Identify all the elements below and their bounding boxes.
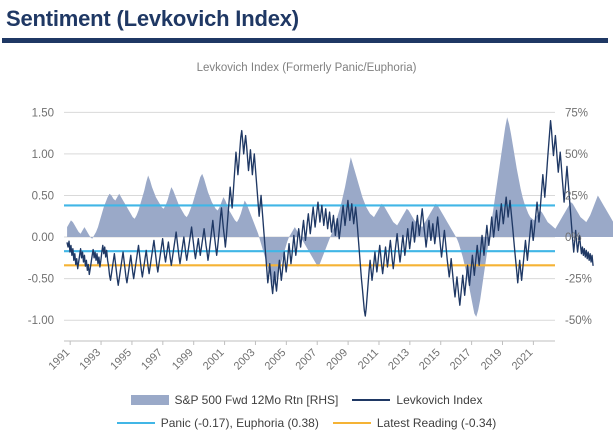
legend-label: S&P 500 Fwd 12Mo Rtn [RHS] bbox=[175, 393, 339, 407]
legend-label: Levkovich Index bbox=[396, 393, 482, 407]
left-axis-tick-label: -1.00 bbox=[28, 315, 54, 327]
right-axis-tick-label: 50% bbox=[565, 149, 588, 161]
left-axis-tick-label: 1.50 bbox=[32, 107, 54, 119]
legend-line-levkovich[interactable]: Levkovich Index bbox=[352, 393, 482, 407]
legend-row-1: S&P 500 Fwd 12Mo Rtn [RHS]Levkovich Inde… bbox=[0, 388, 613, 411]
x-axis-tick-label: 1997 bbox=[139, 347, 165, 373]
legend-swatch-area bbox=[131, 395, 169, 405]
x-axis-tick-label: 2017 bbox=[448, 347, 474, 373]
x-axis-tick-label: 2007 bbox=[294, 347, 320, 373]
right-axis-tick-label: -50% bbox=[565, 315, 592, 327]
right-axis-tick-label: 0% bbox=[565, 232, 582, 244]
x-axis-tick-label: 2009 bbox=[324, 347, 350, 373]
sentiment-chart: 1.501.000.500.00-0.50-1.0075%50%25%0%-25… bbox=[0, 0, 613, 443]
left-axis: 1.501.000.500.00-0.50-1.00 bbox=[28, 107, 54, 327]
right-axis-tick-label: 25% bbox=[565, 190, 588, 202]
left-axis-tick-label: 1.00 bbox=[32, 149, 54, 161]
legend-label: Latest Reading (-0.34) bbox=[377, 416, 496, 430]
legend-swatch-line bbox=[333, 422, 371, 424]
x-axis-tick-label: 2005 bbox=[263, 347, 289, 373]
legend-area-sp500[interactable]: S&P 500 Fwd 12Mo Rtn [RHS] bbox=[131, 393, 339, 407]
x-axis-tick-label: 2019 bbox=[479, 347, 505, 373]
legend-label: Panic (-0.17), Euphoria (0.38) bbox=[161, 416, 319, 430]
x-axis-tick-label: 1991 bbox=[46, 347, 72, 373]
x-axis-tick-label: 2021 bbox=[510, 347, 536, 373]
x-axis-ticks: 1991199319951997199920012003200520072009… bbox=[46, 341, 535, 372]
x-axis-tick-label: 2001 bbox=[201, 347, 227, 373]
right-axis-tick-label: 75% bbox=[565, 107, 588, 119]
left-axis-tick-label: 0.50 bbox=[32, 190, 54, 202]
x-axis-tick-label: 2015 bbox=[417, 347, 443, 373]
legend-line-panic-euphoria[interactable]: Panic (-0.17), Euphoria (0.38) bbox=[117, 416, 319, 430]
x-axis-tick-label: 1993 bbox=[77, 347, 103, 373]
x-axis-tick-label: 1999 bbox=[170, 347, 196, 373]
area-series-sp500-fwd-return bbox=[67, 117, 613, 317]
x-axis-tick-label: 1995 bbox=[108, 347, 134, 373]
x-axis-tick-label: 2011 bbox=[356, 347, 381, 372]
left-axis-tick-label: -0.50 bbox=[28, 274, 54, 286]
legend-line-latest-reading[interactable]: Latest Reading (-0.34) bbox=[333, 416, 496, 430]
legend-swatch-line bbox=[352, 399, 390, 401]
right-axis-tick-label: -25% bbox=[565, 274, 592, 286]
x-axis-tick-label: 2003 bbox=[232, 347, 258, 373]
left-axis-tick-label: 0.00 bbox=[32, 232, 54, 244]
area-path bbox=[67, 117, 613, 317]
legend-row-2: Panic (-0.17), Euphoria (0.38)Latest Rea… bbox=[0, 411, 613, 434]
x-axis-tick-label: 2013 bbox=[386, 347, 412, 373]
legend-swatch-line bbox=[117, 422, 155, 424]
chart-legend: S&P 500 Fwd 12Mo Rtn [RHS]Levkovich Inde… bbox=[0, 388, 613, 434]
